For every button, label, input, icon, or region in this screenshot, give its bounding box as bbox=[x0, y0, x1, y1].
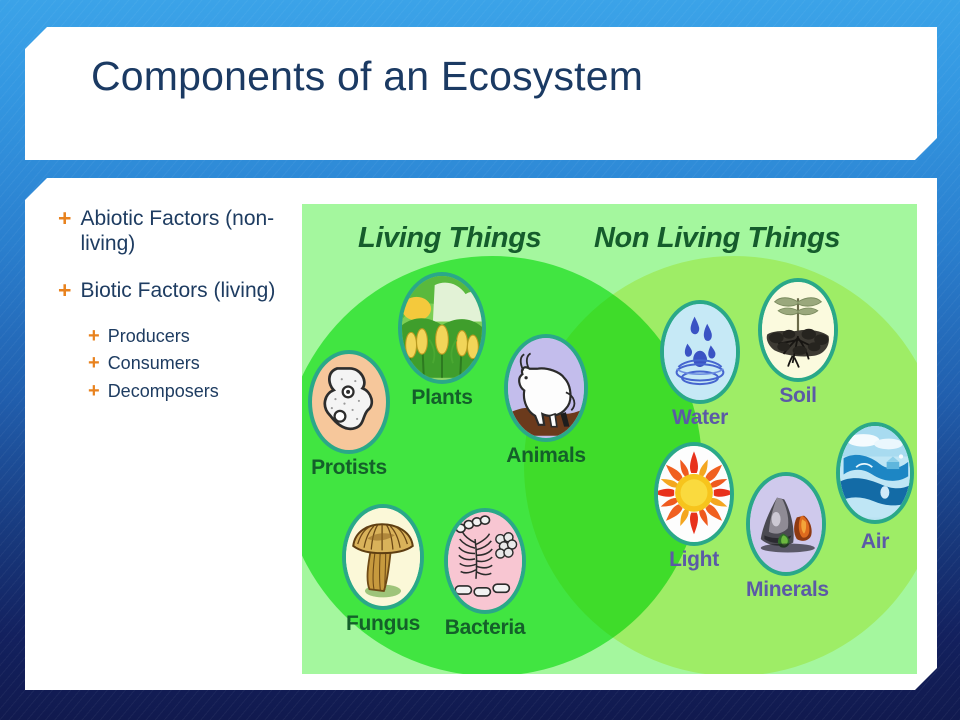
plus-bullet-icon: + bbox=[88, 353, 100, 375]
list-item-label: Producers bbox=[108, 326, 190, 348]
venn-item-label: Soil bbox=[758, 384, 838, 408]
rocks-icon bbox=[750, 476, 822, 570]
list-item: + Decomposers bbox=[88, 381, 318, 403]
page-title: Components of an Ecosystem bbox=[91, 53, 643, 100]
venn-item-air: Air bbox=[836, 422, 914, 554]
venn-item-label: Air bbox=[836, 530, 914, 554]
venn-item-plants: Plants bbox=[398, 272, 486, 410]
list-item: + Producers bbox=[88, 326, 318, 348]
title-panel: Components of an Ecosystem bbox=[25, 27, 937, 160]
content-panel: + Abiotic Factors (non-living) + Biotic … bbox=[25, 178, 937, 690]
bullet-list: + Abiotic Factors (non-living) + Biotic … bbox=[58, 206, 318, 408]
venn-item-bacteria: Bacteria bbox=[444, 508, 526, 640]
list-item-label: Abiotic Factors (non-living) bbox=[80, 206, 318, 256]
venn-heading-living: Living Things bbox=[358, 222, 541, 255]
sun-icon bbox=[658, 446, 730, 540]
list-item-label: Biotic Factors (living) bbox=[80, 278, 275, 303]
animals-oval bbox=[504, 334, 588, 442]
soil-oval bbox=[758, 278, 838, 382]
venn-item-label: Bacteria bbox=[444, 616, 526, 640]
protists-oval bbox=[308, 350, 390, 454]
minerals-oval bbox=[746, 472, 826, 576]
plus-bullet-icon: + bbox=[58, 278, 71, 303]
venn-item-label: Protists bbox=[308, 456, 390, 480]
water-droplet-icon bbox=[664, 304, 736, 398]
venn-item-label: Animals bbox=[504, 444, 588, 468]
plus-bullet-icon: + bbox=[58, 206, 71, 231]
venn-item-fungus: Fungus bbox=[342, 504, 424, 636]
list-item-label: Consumers bbox=[108, 353, 200, 375]
venn-item-animals: Animals bbox=[504, 334, 588, 468]
light-oval bbox=[654, 442, 734, 546]
venn-item-label: Minerals bbox=[746, 578, 829, 602]
venn-heading-non-living: Non Living Things bbox=[594, 222, 840, 255]
fungus-oval bbox=[342, 504, 424, 610]
venn-item-protists: Protists bbox=[308, 350, 390, 480]
water-oval bbox=[660, 300, 740, 404]
venn-item-water: Water bbox=[660, 300, 740, 430]
list-item: + Biotic Factors (living) bbox=[58, 278, 318, 303]
venn-item-label: Water bbox=[660, 406, 740, 430]
list-item: + Consumers bbox=[88, 353, 318, 375]
wind-sky-icon bbox=[840, 426, 910, 518]
venn-item-minerals: Minerals bbox=[746, 472, 829, 602]
plus-bullet-icon: + bbox=[88, 326, 100, 348]
venn-item-label: Light bbox=[654, 548, 734, 572]
venn-item-label: Plants bbox=[398, 386, 486, 410]
venn-item-label: Fungus bbox=[342, 612, 424, 636]
amoeba-icon bbox=[312, 354, 386, 448]
venn-diagram-figure: Living Things Non Living Things bbox=[302, 204, 917, 674]
air-oval bbox=[836, 422, 914, 524]
plus-bullet-icon: + bbox=[88, 381, 100, 403]
mushroom-icon bbox=[346, 508, 420, 604]
list-item-label: Decomposers bbox=[108, 381, 219, 403]
venn-item-light: Light bbox=[654, 442, 734, 572]
venn-item-soil: Soil bbox=[758, 278, 838, 408]
list-item: + Abiotic Factors (non-living) bbox=[58, 206, 318, 256]
crop-field-icon bbox=[402, 276, 482, 378]
plants-oval bbox=[398, 272, 486, 384]
mountain-goat-icon bbox=[508, 338, 584, 436]
bacteria-icon bbox=[448, 512, 522, 608]
bacteria-oval bbox=[444, 508, 526, 614]
plant-roots-icon bbox=[762, 282, 834, 376]
